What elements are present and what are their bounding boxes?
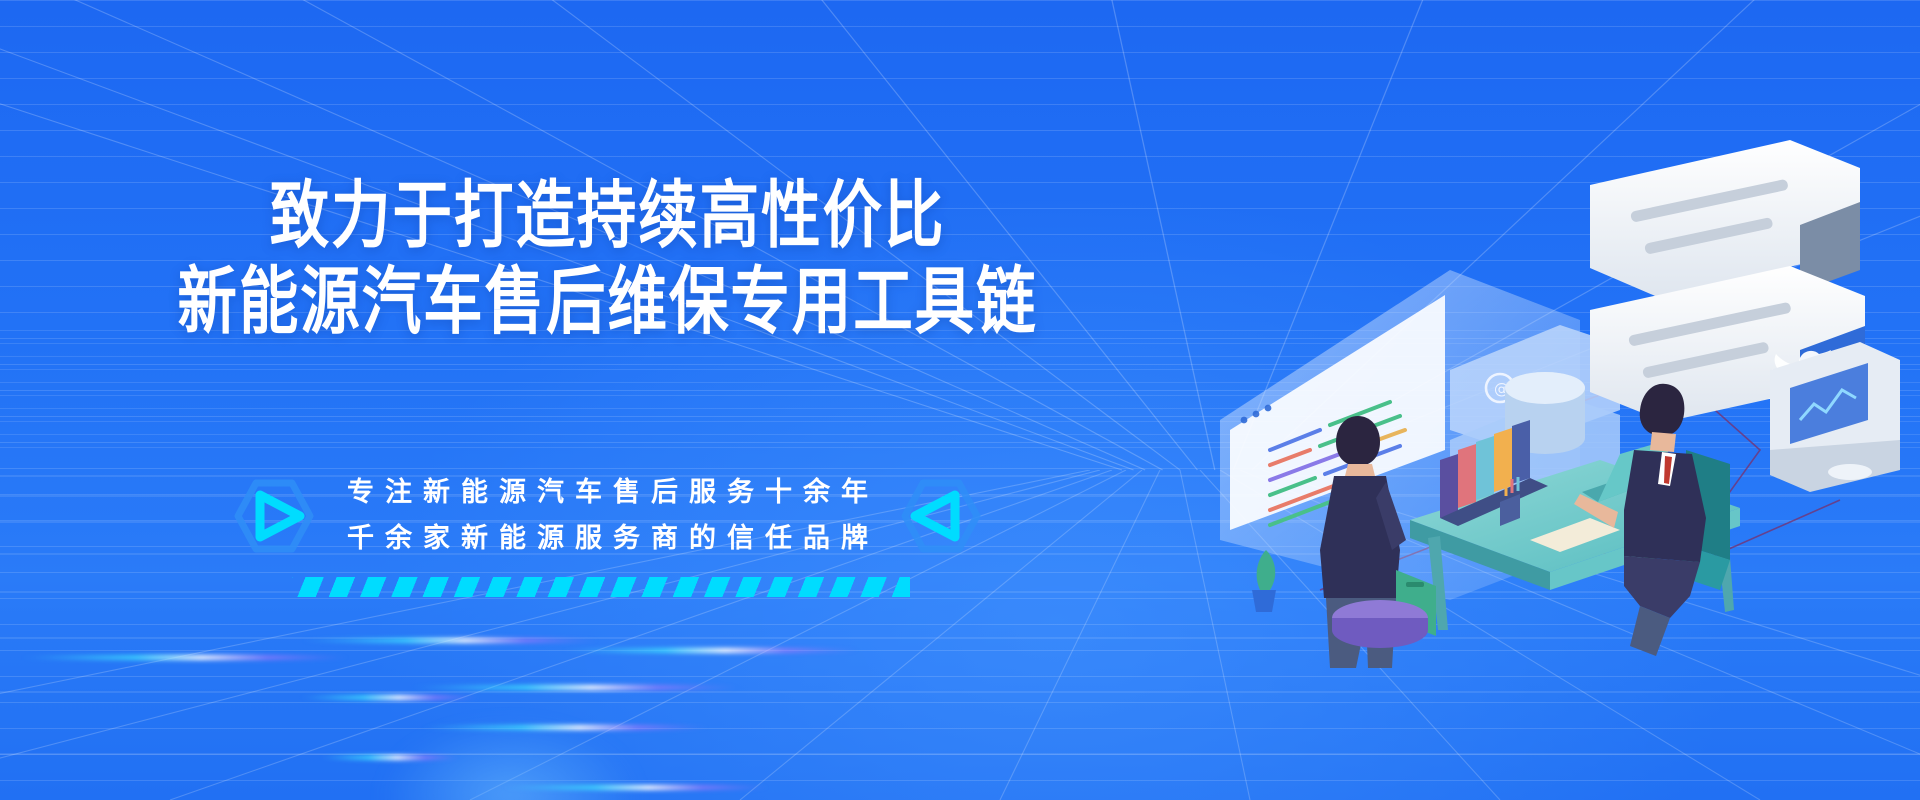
headline-line-2: 新能源汽车售后维保专用工具链	[24, 258, 1190, 345]
subheadline-group: 专注新能源汽车售后服务十余年 千余家新能源服务商的信任品牌	[0, 470, 1215, 562]
isometric-business-meeting-illustration: @ @	[1200, 120, 1920, 680]
diagonal-stripe-bar	[292, 577, 910, 597]
play-arrow-hexagon-mirrored-icon	[899, 473, 985, 559]
subheadline-lines: 专注新能源汽车售后服务十余年 千余家新能源服务商的信任品牌	[336, 470, 879, 562]
subheadline-line-2: 千余家新能源服务商的信任品牌	[336, 516, 879, 562]
subheadline-line-1: 专注新能源汽车售后服务十余年	[336, 470, 879, 516]
illustration-device-panel	[1770, 342, 1900, 492]
hero-content: 致力于打造持续高性价比 新能源汽车售后维保专用工具链 专注新能源汽车售后服务十余…	[0, 0, 1215, 800]
headline-line-1: 致力于打造持续高性价比	[24, 172, 1190, 259]
play-arrow-hexagon-icon	[230, 473, 316, 559]
hero-banner: @ @	[0, 0, 1920, 800]
